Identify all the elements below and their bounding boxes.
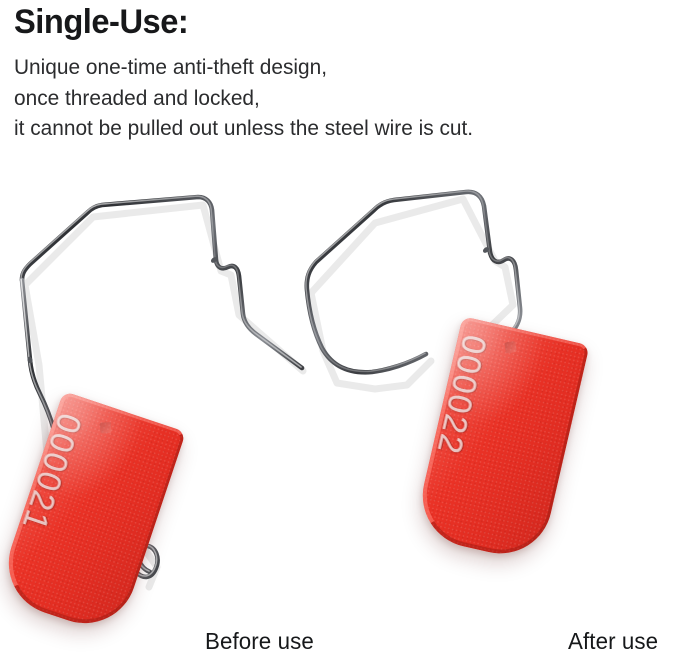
description-line-1: Unique one-time anti-theft design, bbox=[14, 52, 645, 83]
caption-after-use: After use bbox=[568, 628, 658, 655]
product-feature-image: Single-Use: Unique one-time anti-theft d… bbox=[0, 0, 679, 657]
description-text: Unique one-time anti-theft design, once … bbox=[14, 52, 645, 144]
insertion-arrow-icon bbox=[100, 422, 112, 434]
description-line-3: it cannot be pulled out unless the steel… bbox=[14, 113, 645, 144]
caption-before-use: Before use bbox=[205, 628, 314, 655]
seal-after-use: 000022 bbox=[276, 168, 679, 628]
page-title: Single-Use: bbox=[14, 2, 638, 42]
product-photo-stage: 000021 bbox=[0, 168, 679, 657]
description-line-2: once threaded and locked, bbox=[14, 83, 645, 114]
header-text-block: Single-Use: Unique one-time anti-theft d… bbox=[14, 2, 664, 144]
insertion-arrow-icon bbox=[504, 341, 517, 354]
